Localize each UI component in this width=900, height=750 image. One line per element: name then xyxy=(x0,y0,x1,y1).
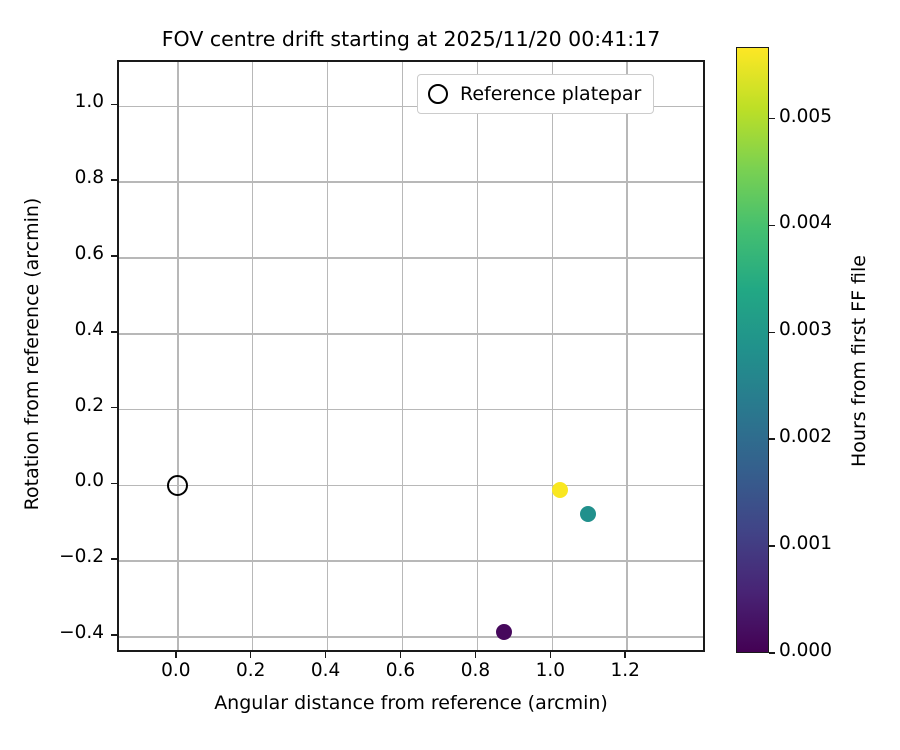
colorbar-tick-mark xyxy=(769,652,775,654)
y-tick-label: −0.2 xyxy=(0,546,104,567)
x-tick-mark xyxy=(475,652,477,658)
y-tick-label: 0.6 xyxy=(0,243,104,264)
y-tick-mark xyxy=(111,331,117,333)
plot-axes xyxy=(117,60,705,652)
reference-platepar-marker-icon xyxy=(428,84,448,104)
colorbar-tick-mark xyxy=(769,225,775,227)
colorbar-tick-label: 0.000 xyxy=(779,640,832,661)
y-tick-mark xyxy=(111,407,117,409)
page-title: FOV centre drift starting at 2025/11/20 … xyxy=(117,27,705,51)
reference-platepar-marker xyxy=(167,475,188,496)
matplotlib-figure: FOV centre drift starting at 2025/11/20 … xyxy=(0,0,900,750)
colorbar-tick-mark xyxy=(769,438,775,440)
colorbar-tick-mark xyxy=(769,545,775,547)
x-tick-label: 0.4 xyxy=(291,660,361,681)
x-tick-mark xyxy=(325,652,327,658)
x-tick-label: 0.6 xyxy=(366,660,436,681)
x-tick-mark xyxy=(250,652,252,658)
x-tick-label: 0.0 xyxy=(141,660,211,681)
y-tick-mark xyxy=(111,558,117,560)
y-tick-mark xyxy=(111,255,117,257)
y-tick-label: −0.4 xyxy=(0,622,104,643)
y-tick-mark xyxy=(111,104,117,106)
colorbar-tick-label: 0.005 xyxy=(779,106,832,127)
data-point xyxy=(552,482,568,498)
scatter-data-layer xyxy=(119,62,703,650)
colorbar-tick-label: 0.002 xyxy=(779,426,832,447)
x-tick-label: 1.0 xyxy=(515,660,585,681)
colorbar-tick-mark xyxy=(769,118,775,120)
x-tick-label: 0.8 xyxy=(440,660,510,681)
legend: Reference platepar xyxy=(417,74,654,114)
legend-item-label: Reference platepar xyxy=(460,83,641,105)
x-axis-label: Angular distance from reference (arcmin) xyxy=(117,692,705,714)
x-tick-mark xyxy=(175,652,177,658)
colorbar-label: Hours from first FF file xyxy=(848,58,870,664)
x-tick-mark xyxy=(400,652,402,658)
y-tick-label: 0.2 xyxy=(0,395,104,416)
y-tick-label: 0.0 xyxy=(0,470,104,491)
y-tick-label: 0.8 xyxy=(0,167,104,188)
x-tick-label: 1.2 xyxy=(590,660,660,681)
x-tick-mark xyxy=(624,652,626,658)
colorbar-tick-mark xyxy=(769,332,775,334)
x-tick-label: 0.2 xyxy=(216,660,286,681)
y-axis-label: Rotation from reference (arcmin) xyxy=(21,58,43,650)
colorbar-tick-label: 0.001 xyxy=(779,533,832,554)
data-point xyxy=(496,624,512,640)
colorbar-tick-label: 0.004 xyxy=(779,212,832,233)
y-tick-mark xyxy=(111,483,117,485)
data-point xyxy=(580,506,596,522)
y-tick-label: 0.4 xyxy=(0,319,104,340)
y-tick-mark xyxy=(111,179,117,181)
y-tick-mark xyxy=(111,634,117,636)
colorbar xyxy=(736,47,769,653)
x-tick-mark xyxy=(550,652,552,658)
y-tick-label: 1.0 xyxy=(0,91,104,112)
colorbar-tick-label: 0.003 xyxy=(779,319,832,340)
